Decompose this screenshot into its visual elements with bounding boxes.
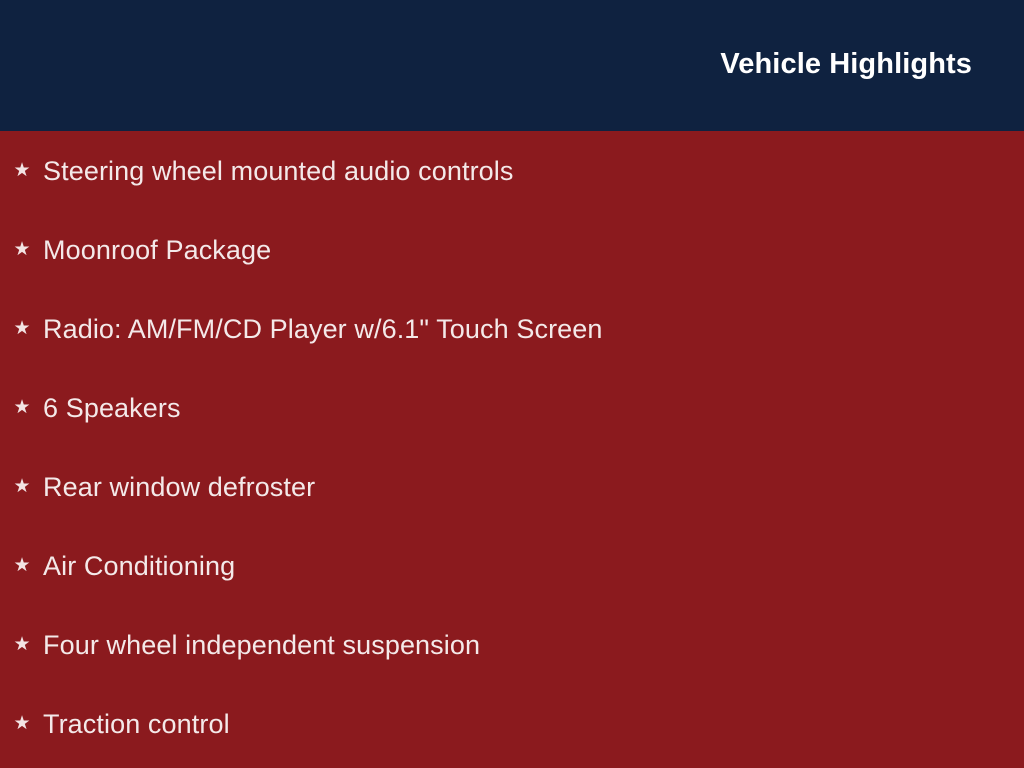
- highlights-list: ★ Steering wheel mounted audio controls …: [0, 131, 1024, 763]
- header-band: Vehicle Highlights: [0, 0, 1024, 131]
- slide-canvas: Vehicle Highlights ★ Steering wheel moun…: [0, 0, 1024, 768]
- star-icon: ★: [12, 319, 32, 339]
- list-item-label: Radio: AM/FM/CD Player w/6.1" Touch Scre…: [43, 313, 603, 345]
- list-item: ★ Radio: AM/FM/CD Player w/6.1" Touch Sc…: [0, 289, 1024, 368]
- list-item: ★ Four wheel independent suspension: [0, 605, 1024, 684]
- star-icon: ★: [12, 240, 32, 260]
- list-item: ★ Moonroof Package: [0, 210, 1024, 289]
- list-item: ★ Air Conditioning: [0, 526, 1024, 605]
- list-item-label: 6 Speakers: [43, 392, 181, 424]
- list-item: ★ Traction control: [0, 684, 1024, 763]
- list-item-label: Four wheel independent suspension: [43, 629, 480, 661]
- page-title: Vehicle Highlights: [720, 47, 972, 81]
- list-item-label: Steering wheel mounted audio controls: [43, 155, 514, 187]
- star-icon: ★: [12, 398, 32, 418]
- list-item-label: Rear window defroster: [43, 471, 315, 503]
- list-item: ★ Rear window defroster: [0, 447, 1024, 526]
- star-icon: ★: [12, 161, 32, 181]
- list-item-label: Moonroof Package: [43, 234, 271, 266]
- list-item-label: Traction control: [43, 708, 230, 740]
- list-item: ★ 6 Speakers: [0, 368, 1024, 447]
- list-item-label: Air Conditioning: [43, 550, 235, 582]
- highlights-section: ★ Steering wheel mounted audio controls …: [0, 131, 1024, 768]
- list-item: ★ Steering wheel mounted audio controls: [0, 131, 1024, 210]
- star-icon: ★: [12, 556, 32, 576]
- star-icon: ★: [12, 477, 32, 497]
- star-icon: ★: [12, 635, 32, 655]
- star-icon: ★: [12, 714, 32, 734]
